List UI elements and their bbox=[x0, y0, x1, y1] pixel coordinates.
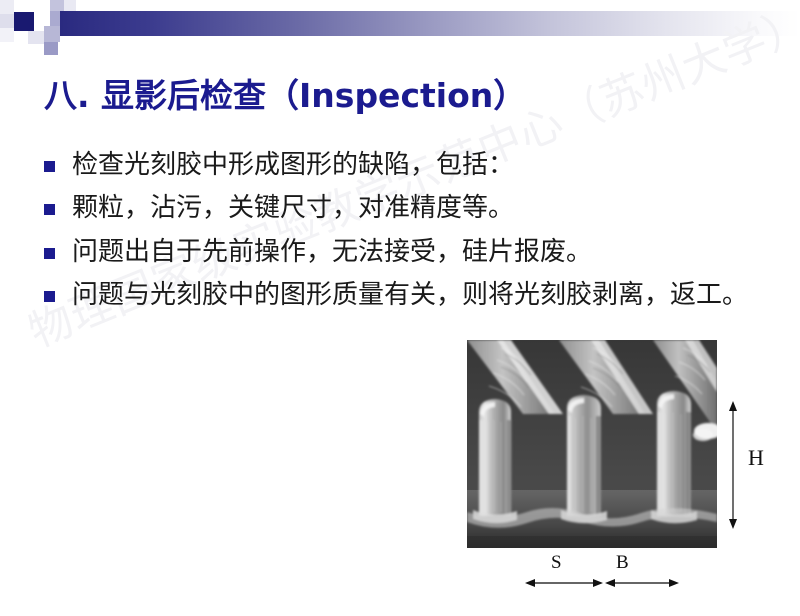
space-label: S bbox=[551, 552, 562, 574]
deco-square-dark-main bbox=[14, 12, 34, 31]
list-item-label: 检查光刻胶中形成图形的缺陷，包括： bbox=[72, 148, 754, 182]
deco-square-top-1 bbox=[50, 0, 64, 11]
list-item: 检查光刻胶中形成图形的缺陷，包括： bbox=[44, 148, 754, 182]
sem-figure: H S B bbox=[467, 340, 717, 548]
header-gradient-bar bbox=[60, 11, 800, 36]
deco-square-pale-1 bbox=[0, 0, 14, 14]
square-bullet-icon bbox=[44, 248, 55, 259]
deco-square-light-2 bbox=[28, 31, 44, 44]
deco-square-pale-2 bbox=[0, 14, 14, 28]
page-title: 八. 显影后检查（Inspection） bbox=[44, 69, 526, 117]
deco-square-light-1 bbox=[34, 0, 50, 12]
list-item: 问题出自于先前操作，无法接受，硅片报废。 bbox=[44, 235, 754, 269]
list-item: 问题与光刻胶中的图形质量有关，则将光刻胶剥离，返工。 bbox=[44, 278, 754, 312]
deco-square-pale-3 bbox=[0, 28, 14, 42]
list-item-label: 问题与光刻胶中的图形质量有关，则将光刻胶剥离，返工。 bbox=[72, 278, 754, 312]
bullet-list: 检查光刻胶中形成图形的缺陷，包括： 颗粒，沾污，关键尺寸，对准精度等。 问题出自… bbox=[44, 148, 754, 321]
list-item-label: 问题出自于先前操作，无法接受，硅片报废。 bbox=[72, 235, 754, 269]
square-bullet-icon bbox=[44, 291, 55, 302]
height-label: H bbox=[748, 445, 764, 471]
header-decoration bbox=[0, 0, 800, 46]
square-bullet-icon bbox=[44, 204, 55, 215]
height-measurement: H bbox=[722, 400, 782, 530]
list-item: 颗粒，沾污，关键尺寸，对准精度等。 bbox=[44, 191, 754, 225]
deco-square-mid-1 bbox=[44, 26, 60, 42]
square-bullet-icon bbox=[44, 161, 55, 172]
sem-micrograph-image bbox=[467, 340, 717, 548]
list-item-label: 颗粒，沾污，关键尺寸，对准精度等。 bbox=[72, 191, 754, 225]
bar-label: B bbox=[616, 552, 629, 574]
width-measurements: S B bbox=[524, 552, 724, 594]
deco-square-top-2 bbox=[64, 0, 76, 11]
deco-square-mid-2 bbox=[44, 42, 58, 55]
